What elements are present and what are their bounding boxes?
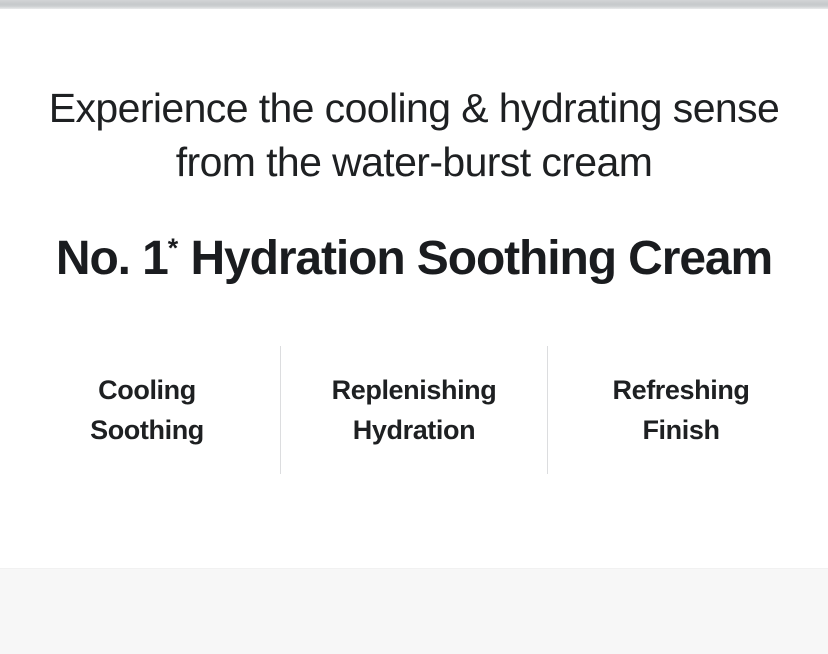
promo-headline: No. 1* Hydration Soothing Cream	[0, 228, 828, 290]
feature-item-cooling-soothing-line-1: Cooling	[20, 370, 274, 410]
feature-item-replenishing-hydration-line-1: Replenishing	[287, 370, 541, 410]
promo-headline-asterisk: *	[168, 233, 178, 263]
feature-item-refreshing-finish-line-1: Refreshing	[554, 370, 808, 410]
feature-item-refreshing-finish-line-2: Finish	[554, 410, 808, 450]
promo-eyebrow-line-1: Experience the cooling & hydrating sense	[0, 81, 828, 135]
feature-item-cooling-soothing-line-2: Soothing	[20, 410, 274, 450]
feature-list: Cooling Soothing Replenishing Hydration …	[14, 340, 814, 480]
promo-headline-prefix: No. 1	[56, 232, 168, 285]
promo-eyebrow: Experience the cooling & hydrating sense…	[0, 81, 828, 189]
promo-page: Experience the cooling & hydrating sense…	[0, 0, 828, 654]
feature-item-replenishing-hydration: Replenishing Hydration	[281, 370, 547, 450]
promo-headline-suffix: Hydration Soothing Cream	[178, 232, 772, 285]
promo-eyebrow-line-2: from the water-burst cream	[0, 135, 828, 189]
bottom-section-band	[0, 568, 828, 654]
top-chrome-band	[0, 0, 828, 9]
promo-card: Experience the cooling & hydrating sense…	[0, 9, 828, 568]
feature-item-cooling-soothing: Cooling Soothing	[14, 370, 280, 450]
feature-item-refreshing-finish: Refreshing Finish	[548, 370, 814, 450]
feature-item-replenishing-hydration-line-2: Hydration	[287, 410, 541, 450]
